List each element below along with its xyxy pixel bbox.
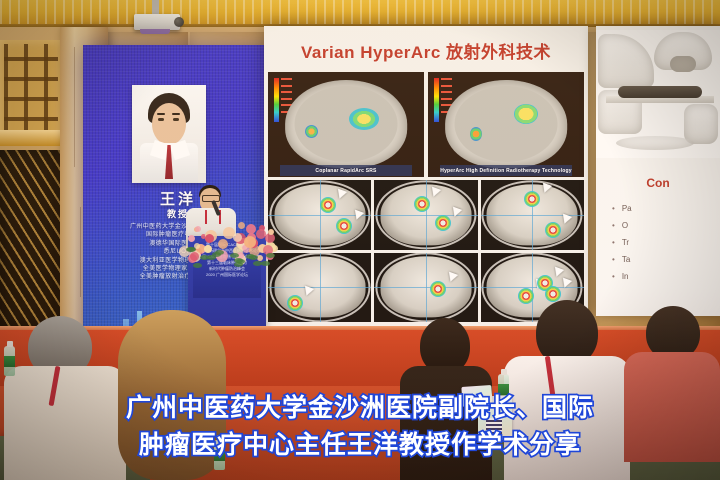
ceiling-slats <box>0 0 720 26</box>
bullet-item: •Ta <box>612 251 720 268</box>
caption-line-1: 广州中医药大学金沙洲医院副院长、国际 <box>0 390 720 427</box>
water-bottle <box>4 346 15 376</box>
ct-caption: HyperArc High Definition Radiotherapy Te… <box>440 165 571 176</box>
mri-panel <box>374 180 477 250</box>
isodose-blob <box>518 288 534 304</box>
side-screen-title: Con <box>596 176 720 190</box>
bullet-item: •O <box>612 217 720 234</box>
lattice-light-glow <box>0 130 62 146</box>
flower <box>233 233 242 242</box>
isodose-blob <box>414 196 430 212</box>
side-projection-screen: Con •Pa •O •Tr •Ta •In <box>596 26 720 316</box>
dose-colorbar <box>274 78 279 122</box>
projector-lens <box>174 17 184 27</box>
isodose-blob <box>336 218 352 234</box>
flower <box>204 245 212 253</box>
presentation-title: Varian HyperArc 放射外科技术 <box>264 38 588 63</box>
foliage <box>230 253 239 258</box>
flower <box>190 252 199 261</box>
ceiling-trim <box>0 0 720 26</box>
isodose-blob <box>524 191 540 207</box>
main-projection-screen: Varian HyperArc 放射外科技术 Coplanar RapidArc… <box>264 26 588 326</box>
bullet-item: •Tr <box>612 234 720 251</box>
foliage <box>236 259 245 264</box>
flower <box>218 239 228 249</box>
ct-brain-tissue <box>455 86 558 162</box>
mri-panel <box>374 253 477 323</box>
flower-arrangement <box>176 222 280 266</box>
ct-brain-tissue <box>295 86 398 162</box>
foliage <box>215 250 224 255</box>
flower <box>244 236 256 248</box>
foliage <box>207 255 216 260</box>
side-screen-bullets: •Pa •O •Tr •Ta •In <box>612 200 720 285</box>
mri-panel <box>268 253 371 323</box>
conference-photo: 王洋 教授 广州中医药大学金沙洲医院副院长 国际肿瘤医疗中心主任 澳德华国际医疗… <box>0 0 720 480</box>
ct-image-coplanar: Coplanar RapidArc SRS <box>268 72 424 177</box>
isodose-blob <box>435 215 451 231</box>
linear-accelerator-photo <box>596 30 720 158</box>
flower <box>268 229 274 235</box>
caption-line-2: 肿瘤医疗中心主任王洋教授作学术分享 <box>0 427 720 464</box>
foliage <box>261 261 270 266</box>
flower <box>188 235 195 242</box>
bronze-herringbone-panel <box>0 150 62 330</box>
mri-panel <box>481 180 584 250</box>
patient-on-couch <box>618 86 702 98</box>
podium-sign-line: 2020 广州国际医学论坛 <box>193 272 261 278</box>
bullet-item: •In <box>612 268 720 285</box>
foliage <box>249 255 258 260</box>
isodose-blob <box>287 295 303 311</box>
flower <box>238 222 245 229</box>
isodose-blob <box>545 222 561 238</box>
ct-dose-row: Coplanar RapidArc SRS HyperArc High Defi… <box>268 72 584 177</box>
foliage <box>193 263 202 268</box>
mri-panel-grid <box>268 180 584 322</box>
isodose-blob <box>320 197 336 213</box>
isodose-blob <box>430 281 446 297</box>
caption-overlay: 广州中医药大学金沙洲医院副院长、国际 肿瘤医疗中心主任王洋教授作学术分享 <box>0 390 720 464</box>
speaker-name: 王洋 <box>83 188 273 209</box>
projector-icon <box>134 14 180 30</box>
foliage <box>186 247 195 252</box>
isodose-blob <box>545 286 561 302</box>
speaker-portrait-photo <box>132 85 206 183</box>
ct-caption: Coplanar RapidArc SRS <box>280 165 411 176</box>
dose-colorbar <box>434 78 439 122</box>
foliage <box>266 253 275 258</box>
portrait-face <box>152 103 186 145</box>
mri-panel <box>268 180 371 250</box>
flower <box>195 226 201 232</box>
flower <box>205 234 214 243</box>
ct-image-hyperarc: HyperArc High Definition Radiotherapy Te… <box>428 72 584 177</box>
bullet-item: •Pa <box>612 200 720 217</box>
speaker-title: 教授 <box>83 207 273 220</box>
